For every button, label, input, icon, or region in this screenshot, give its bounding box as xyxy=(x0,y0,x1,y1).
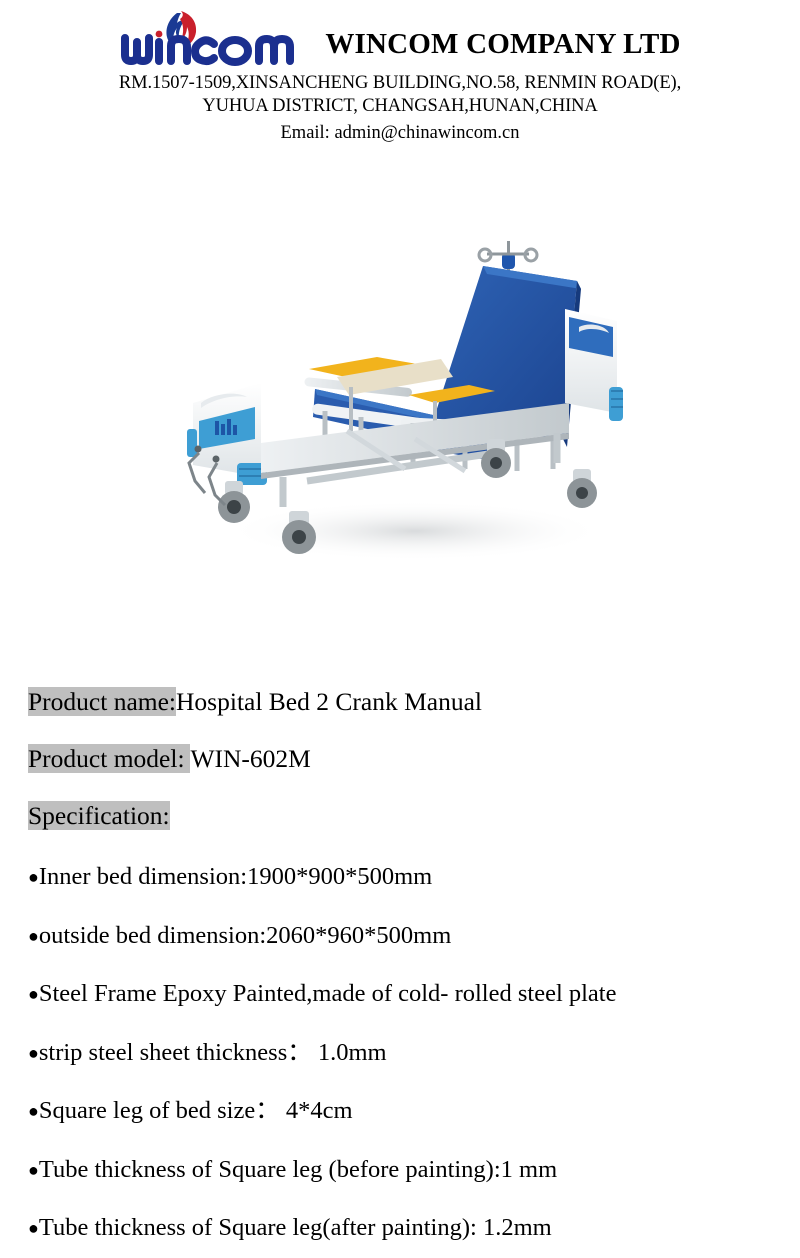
wincom-logo-graphic xyxy=(119,8,315,68)
bullet-marker-icon: ● xyxy=(28,1218,39,1238)
headboard xyxy=(565,309,623,421)
list-item-text: Square leg of bed size： 4*4cm xyxy=(39,1097,353,1124)
logo-i-dot xyxy=(156,31,163,38)
bullet-marker-icon: ● xyxy=(28,1101,39,1121)
bullet-marker-icon: ● xyxy=(28,926,39,946)
product-model-value: WIN-602M xyxy=(190,744,310,773)
list-item-text: Tube thickness of Square leg (before pai… xyxy=(39,1156,557,1183)
specification-row: Specification: xyxy=(28,787,800,844)
address-line-2: YUHUA DISTRICT, CHANGSAH,HUNAN,CHINA xyxy=(0,95,800,118)
bullet-marker-icon: ● xyxy=(28,1043,39,1063)
list-item-text: Tube thickness of Square leg(after paint… xyxy=(39,1214,552,1241)
list-item-text: Steel Frame Epoxy Painted,made of cold- … xyxy=(39,980,617,1007)
product-name-label: Product name: xyxy=(28,687,176,716)
list-item: ●outside bed dimension:2060*960*500mm xyxy=(28,907,800,966)
address-line-1: RM.1507-1509,XINSANCHENG BUILDING,NO.58,… xyxy=(0,72,800,95)
brand-line: WINCOM COMPANY LTD xyxy=(0,6,800,68)
product-image xyxy=(0,181,800,651)
list-item: ●Square leg of bed size： 4*4cm xyxy=(28,1082,800,1141)
product-name-value: Hospital Bed 2 Crank Manual xyxy=(176,687,482,716)
footboard xyxy=(187,383,267,485)
product-model-row: Product model: WIN-602M xyxy=(28,730,800,787)
list-item-text: outside bed dimension:2060*960*500mm xyxy=(39,922,451,949)
specification-block: Product name:Hospital Bed 2 Crank Manual… xyxy=(0,673,800,1258)
bullet-marker-icon: ● xyxy=(28,984,39,1004)
list-item-text: strip steel sheet thickness： 1.0mm xyxy=(39,1039,387,1066)
hospital-bed-illustration xyxy=(165,181,635,581)
company-name: WINCOM COMPANY LTD xyxy=(325,30,680,68)
product-model-label: Product model: xyxy=(28,744,190,773)
list-item: ●Inner bed dimension:1900*900*500mm xyxy=(28,848,800,907)
email-line: Email: admin@chinawincom.cn xyxy=(0,121,800,145)
page-header: WINCOM COMPANY LTD RM.1507-1509,XINSANCH… xyxy=(0,0,800,145)
bullet-marker-icon: ● xyxy=(28,1160,39,1180)
bullet-marker-icon: ● xyxy=(28,867,39,887)
wincom-logo xyxy=(119,8,315,68)
caster xyxy=(567,469,597,508)
email-address: admin@chinawincom.cn xyxy=(334,123,519,143)
list-item: ●strip steel sheet thickness： 1.0mm xyxy=(28,1024,800,1083)
list-item-text: Inner bed dimension:1900*900*500mm xyxy=(39,863,432,890)
list-item: ●Tube thickness of Square leg (before pa… xyxy=(28,1141,800,1200)
email-label: Email: xyxy=(281,123,330,143)
floor-shadow xyxy=(225,501,605,561)
specification-list: ●Inner bed dimension:1900*900*500mm ●out… xyxy=(28,848,800,1258)
list-item: ●Tube thickness of Square leg(after pain… xyxy=(28,1199,800,1258)
specification-label: Specification: xyxy=(28,801,170,830)
wincom-wordmark xyxy=(125,38,290,62)
list-item: ●Steel Frame Epoxy Painted,made of cold-… xyxy=(28,965,800,1024)
product-name-row: Product name:Hospital Bed 2 Crank Manual xyxy=(28,673,800,730)
